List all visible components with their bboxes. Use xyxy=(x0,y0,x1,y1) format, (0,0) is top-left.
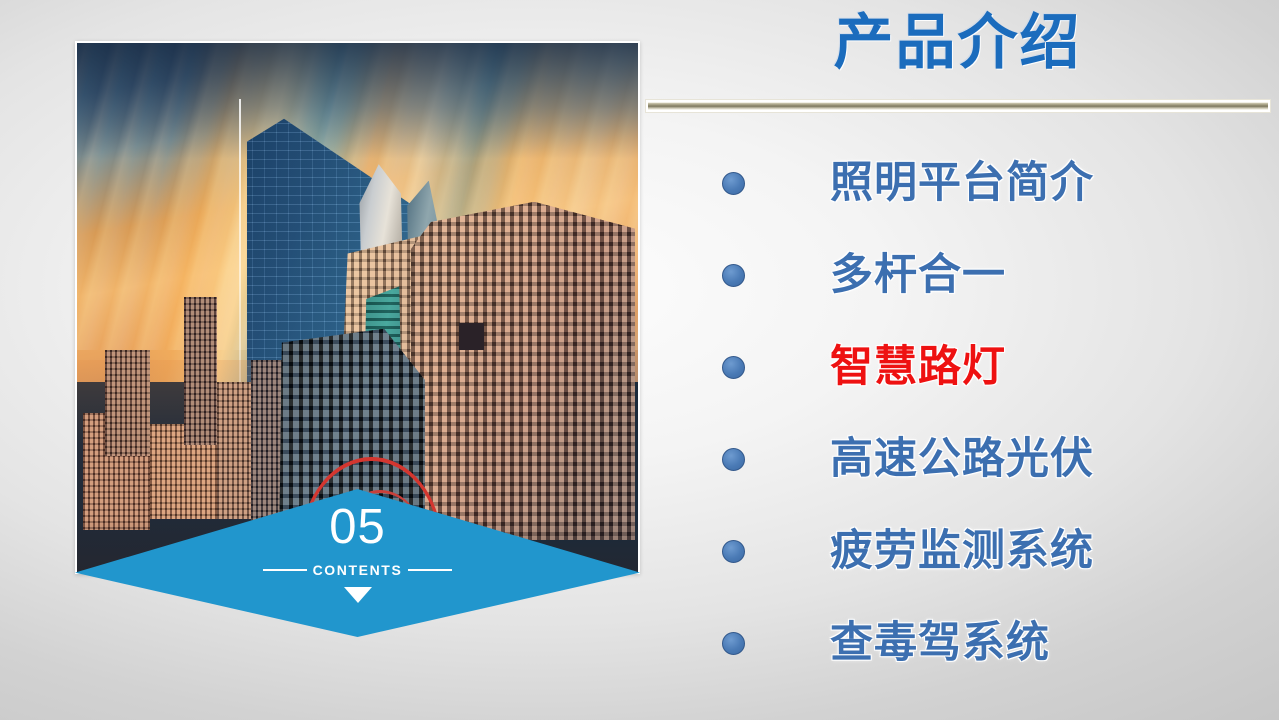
ground-haze xyxy=(77,519,638,572)
sky-upper-shade xyxy=(77,43,638,159)
agenda-item-6[interactable]: 查毒驾系统 xyxy=(700,597,1275,689)
page-title: 产品介绍 xyxy=(645,6,1270,81)
agenda-list: 照明平台简介 多杆合一 智慧路灯 高速公路光伏 疲劳监测系统 查毒驾系统 xyxy=(700,137,1275,689)
caret-down-icon xyxy=(344,587,372,603)
bullet-circle-icon xyxy=(722,172,745,195)
agenda-item-label: 高速公路光伏 xyxy=(830,438,1094,481)
bullet-circle-icon xyxy=(722,448,745,471)
low-building-4 xyxy=(184,297,218,445)
bullet-circle-icon xyxy=(722,356,745,379)
agenda-item-label: 查毒驾系统 xyxy=(830,622,1050,665)
agenda-item-label: 疲劳监测系统 xyxy=(830,530,1094,573)
agenda-item-1[interactable]: 照明平台简介 xyxy=(700,137,1275,229)
bullet-circle-icon xyxy=(722,264,745,287)
agenda-item-2[interactable]: 多杆合一 xyxy=(700,229,1275,321)
city-skyline-photo xyxy=(77,43,638,572)
agenda-item-label: 多杆合一 xyxy=(830,254,1006,297)
perforated-brick-building xyxy=(411,202,635,541)
title-divider-bar xyxy=(648,102,1268,110)
agenda-item-4[interactable]: 高速公路光伏 xyxy=(700,413,1275,505)
low-building-3 xyxy=(105,350,150,456)
agenda-item-5[interactable]: 疲劳监测系统 xyxy=(700,505,1275,597)
presentation-slide: 05 CONTENTS 产品介绍 照明平台简介 多杆合一 智慧路灯 xyxy=(0,0,1279,720)
agenda-item-label-highlighted: 智慧路灯 xyxy=(830,346,1006,389)
bullet-circle-icon xyxy=(722,540,745,563)
bullet-circle-icon xyxy=(722,632,745,655)
building-window-notch xyxy=(459,323,484,349)
title-divider xyxy=(645,99,1271,113)
agenda-item-label: 照明平台简介 xyxy=(830,162,1094,205)
agenda-item-3-active[interactable]: 智慧路灯 xyxy=(700,321,1275,413)
cover-photo-frame xyxy=(75,41,640,574)
